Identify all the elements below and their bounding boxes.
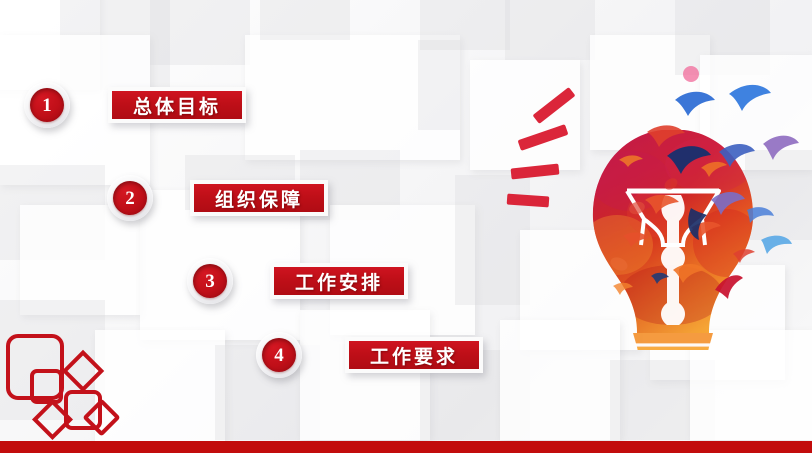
bird-icon bbox=[675, 92, 715, 116]
diamond-outline bbox=[62, 350, 104, 392]
bird-icon bbox=[747, 207, 774, 223]
agenda-label: 组织保障 bbox=[194, 184, 324, 212]
agenda-row[interactable]: 2 组织保障 bbox=[107, 175, 328, 221]
filament-stem bbox=[661, 195, 685, 325]
agenda-number-badge[interactable]: 2 bbox=[107, 175, 153, 221]
rounded-square-outline bbox=[30, 369, 63, 404]
agenda-number-badge[interactable]: 1 bbox=[24, 82, 70, 128]
agenda-row[interactable]: 1 总体目标 bbox=[24, 82, 246, 128]
bg-square bbox=[418, 40, 460, 130]
bg-square bbox=[20, 205, 140, 315]
agenda-number: 4 bbox=[262, 338, 296, 372]
agenda-label: 总体目标 bbox=[112, 91, 242, 119]
decorative-shapes bbox=[0, 320, 120, 440]
agenda-number-badge[interactable]: 4 bbox=[256, 332, 302, 378]
agenda-number: 3 bbox=[193, 264, 227, 298]
lightbulb-illustration bbox=[515, 40, 805, 350]
bg-square bbox=[260, 0, 350, 40]
bg-square bbox=[150, 0, 250, 65]
agenda-number-badge[interactable]: 3 bbox=[187, 258, 233, 304]
agenda-label-frame[interactable]: 总体目标 bbox=[108, 87, 246, 123]
bird-icon bbox=[729, 85, 771, 111]
agenda-row[interactable]: 3 工作安排 bbox=[187, 258, 408, 304]
agenda-label-frame[interactable]: 工作安排 bbox=[270, 263, 408, 299]
bottom-accent-bar bbox=[0, 441, 812, 453]
agenda-label-frame[interactable]: 工作要求 bbox=[345, 337, 483, 373]
slide-canvas: 1 总体目标 2 组织保障 3 工作安排 4 工作要求 bbox=[0, 0, 812, 453]
agenda-label-frame[interactable]: 组织保障 bbox=[190, 180, 328, 216]
agenda-label: 工作安排 bbox=[274, 267, 404, 295]
bird-icon bbox=[763, 136, 799, 160]
bulb-svg bbox=[515, 40, 805, 350]
agenda-number: 1 bbox=[30, 88, 64, 122]
agenda-row[interactable]: 4 工作要求 bbox=[256, 332, 483, 378]
bird-icon bbox=[761, 236, 792, 254]
agenda-number: 2 bbox=[113, 181, 147, 215]
agenda-label: 工作要求 bbox=[349, 341, 479, 369]
bird-icon bbox=[683, 66, 699, 82]
